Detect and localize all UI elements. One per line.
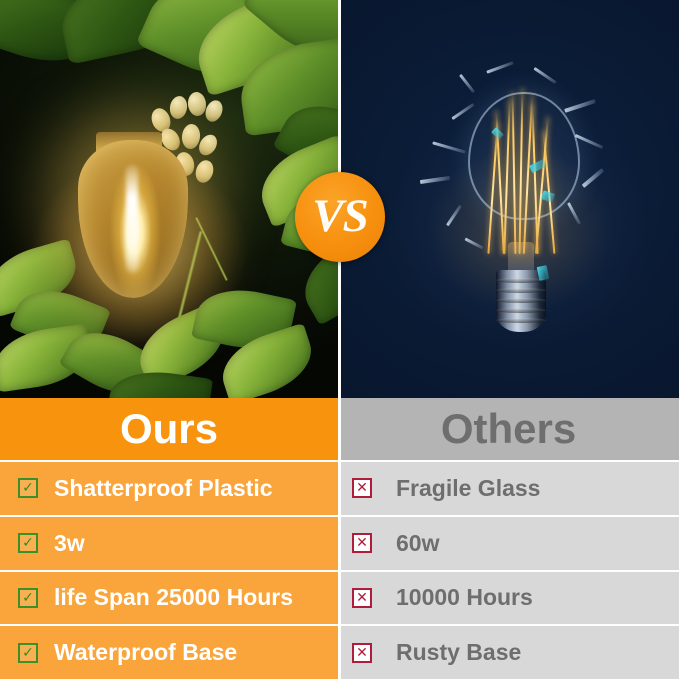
glass-shard-icon [575,134,604,149]
feature-label: Waterproof Base [54,641,237,664]
column-divider [338,398,341,679]
cross-icon: ✕ [352,478,372,498]
header-others-label: Others [441,408,576,450]
glass-shard-icon [420,176,450,184]
feature-label: life Span 25000 Hours [54,586,293,609]
comparison-table: Ours ✓ Shatterproof Plastic ✓ 3w ✓ life … [0,398,679,679]
glass-shard-icon [564,99,596,113]
glass-shard-icon [464,237,483,249]
comparison-infographic: VS Ours ✓ Shatterproof Plastic ✓ 3w ✓ li… [0,0,679,679]
cross-icon: ✕ [352,588,372,608]
feature-label: 3w [54,532,85,555]
feature-label: 60w [396,532,439,555]
column-others: Others ✕ Fragile Glass ✕ 60w ✕ 10000 Hou… [338,398,679,679]
check-icon: ✓ [18,478,38,498]
header-ours-label: Ours [120,408,218,450]
table-row: ✓ life Span 25000 Hours [0,570,338,625]
glass-shard-icon [459,74,475,93]
table-row: ✕ Fragile Glass [338,460,679,515]
check-icon: ✓ [18,643,38,663]
feature-label: 10000 Hours [396,586,533,609]
header-ours: Ours [0,398,338,460]
glass-shard-icon [446,205,462,227]
stem-icon [195,217,228,281]
berry-icon [193,158,216,185]
berry-icon [187,91,207,117]
rows-ours: ✓ Shatterproof Plastic ✓ 3w ✓ life Span … [0,460,338,679]
filament-cluster-icon [490,86,554,254]
berry-icon [202,98,225,124]
feature-label: Shatterproof Plastic [54,477,273,500]
photo-ours-bulb-in-foliage [0,0,338,398]
check-icon: ✓ [18,533,38,553]
table-row: ✕ 10000 Hours [338,570,679,625]
column-ours: Ours ✓ Shatterproof Plastic ✓ 3w ✓ life … [0,398,338,679]
feature-label: Rusty Base [396,641,521,664]
glass-shard-icon [533,67,556,84]
table-row: ✕ 60w [338,515,679,570]
glass-shard-icon [567,202,581,225]
glass-shard-icon [537,265,550,281]
glass-shard-icon [451,103,474,120]
check-icon: ✓ [18,588,38,608]
table-row: ✓ Waterproof Base [0,624,338,679]
feature-label: Fragile Glass [396,477,540,500]
glowing-bulb-icon [78,140,188,298]
rows-others: ✕ Fragile Glass ✕ 60w ✕ 10000 Hours ✕ Ru… [338,460,679,679]
photo-others-shattering-bulb [338,0,679,398]
vs-label: VS [312,193,368,240]
vs-badge: VS [295,172,385,262]
glass-shard-icon [582,168,604,188]
cross-icon: ✕ [352,533,372,553]
table-row: ✓ Shatterproof Plastic [0,460,338,515]
glass-shard-icon [486,61,513,73]
cross-icon: ✕ [352,643,372,663]
table-row: ✕ Rusty Base [338,624,679,679]
berry-icon [168,95,189,121]
header-others: Others [338,398,679,460]
shattering-bulb-icon [446,66,596,356]
table-row: ✓ 3w [0,515,338,570]
glass-shard-icon [432,141,466,153]
